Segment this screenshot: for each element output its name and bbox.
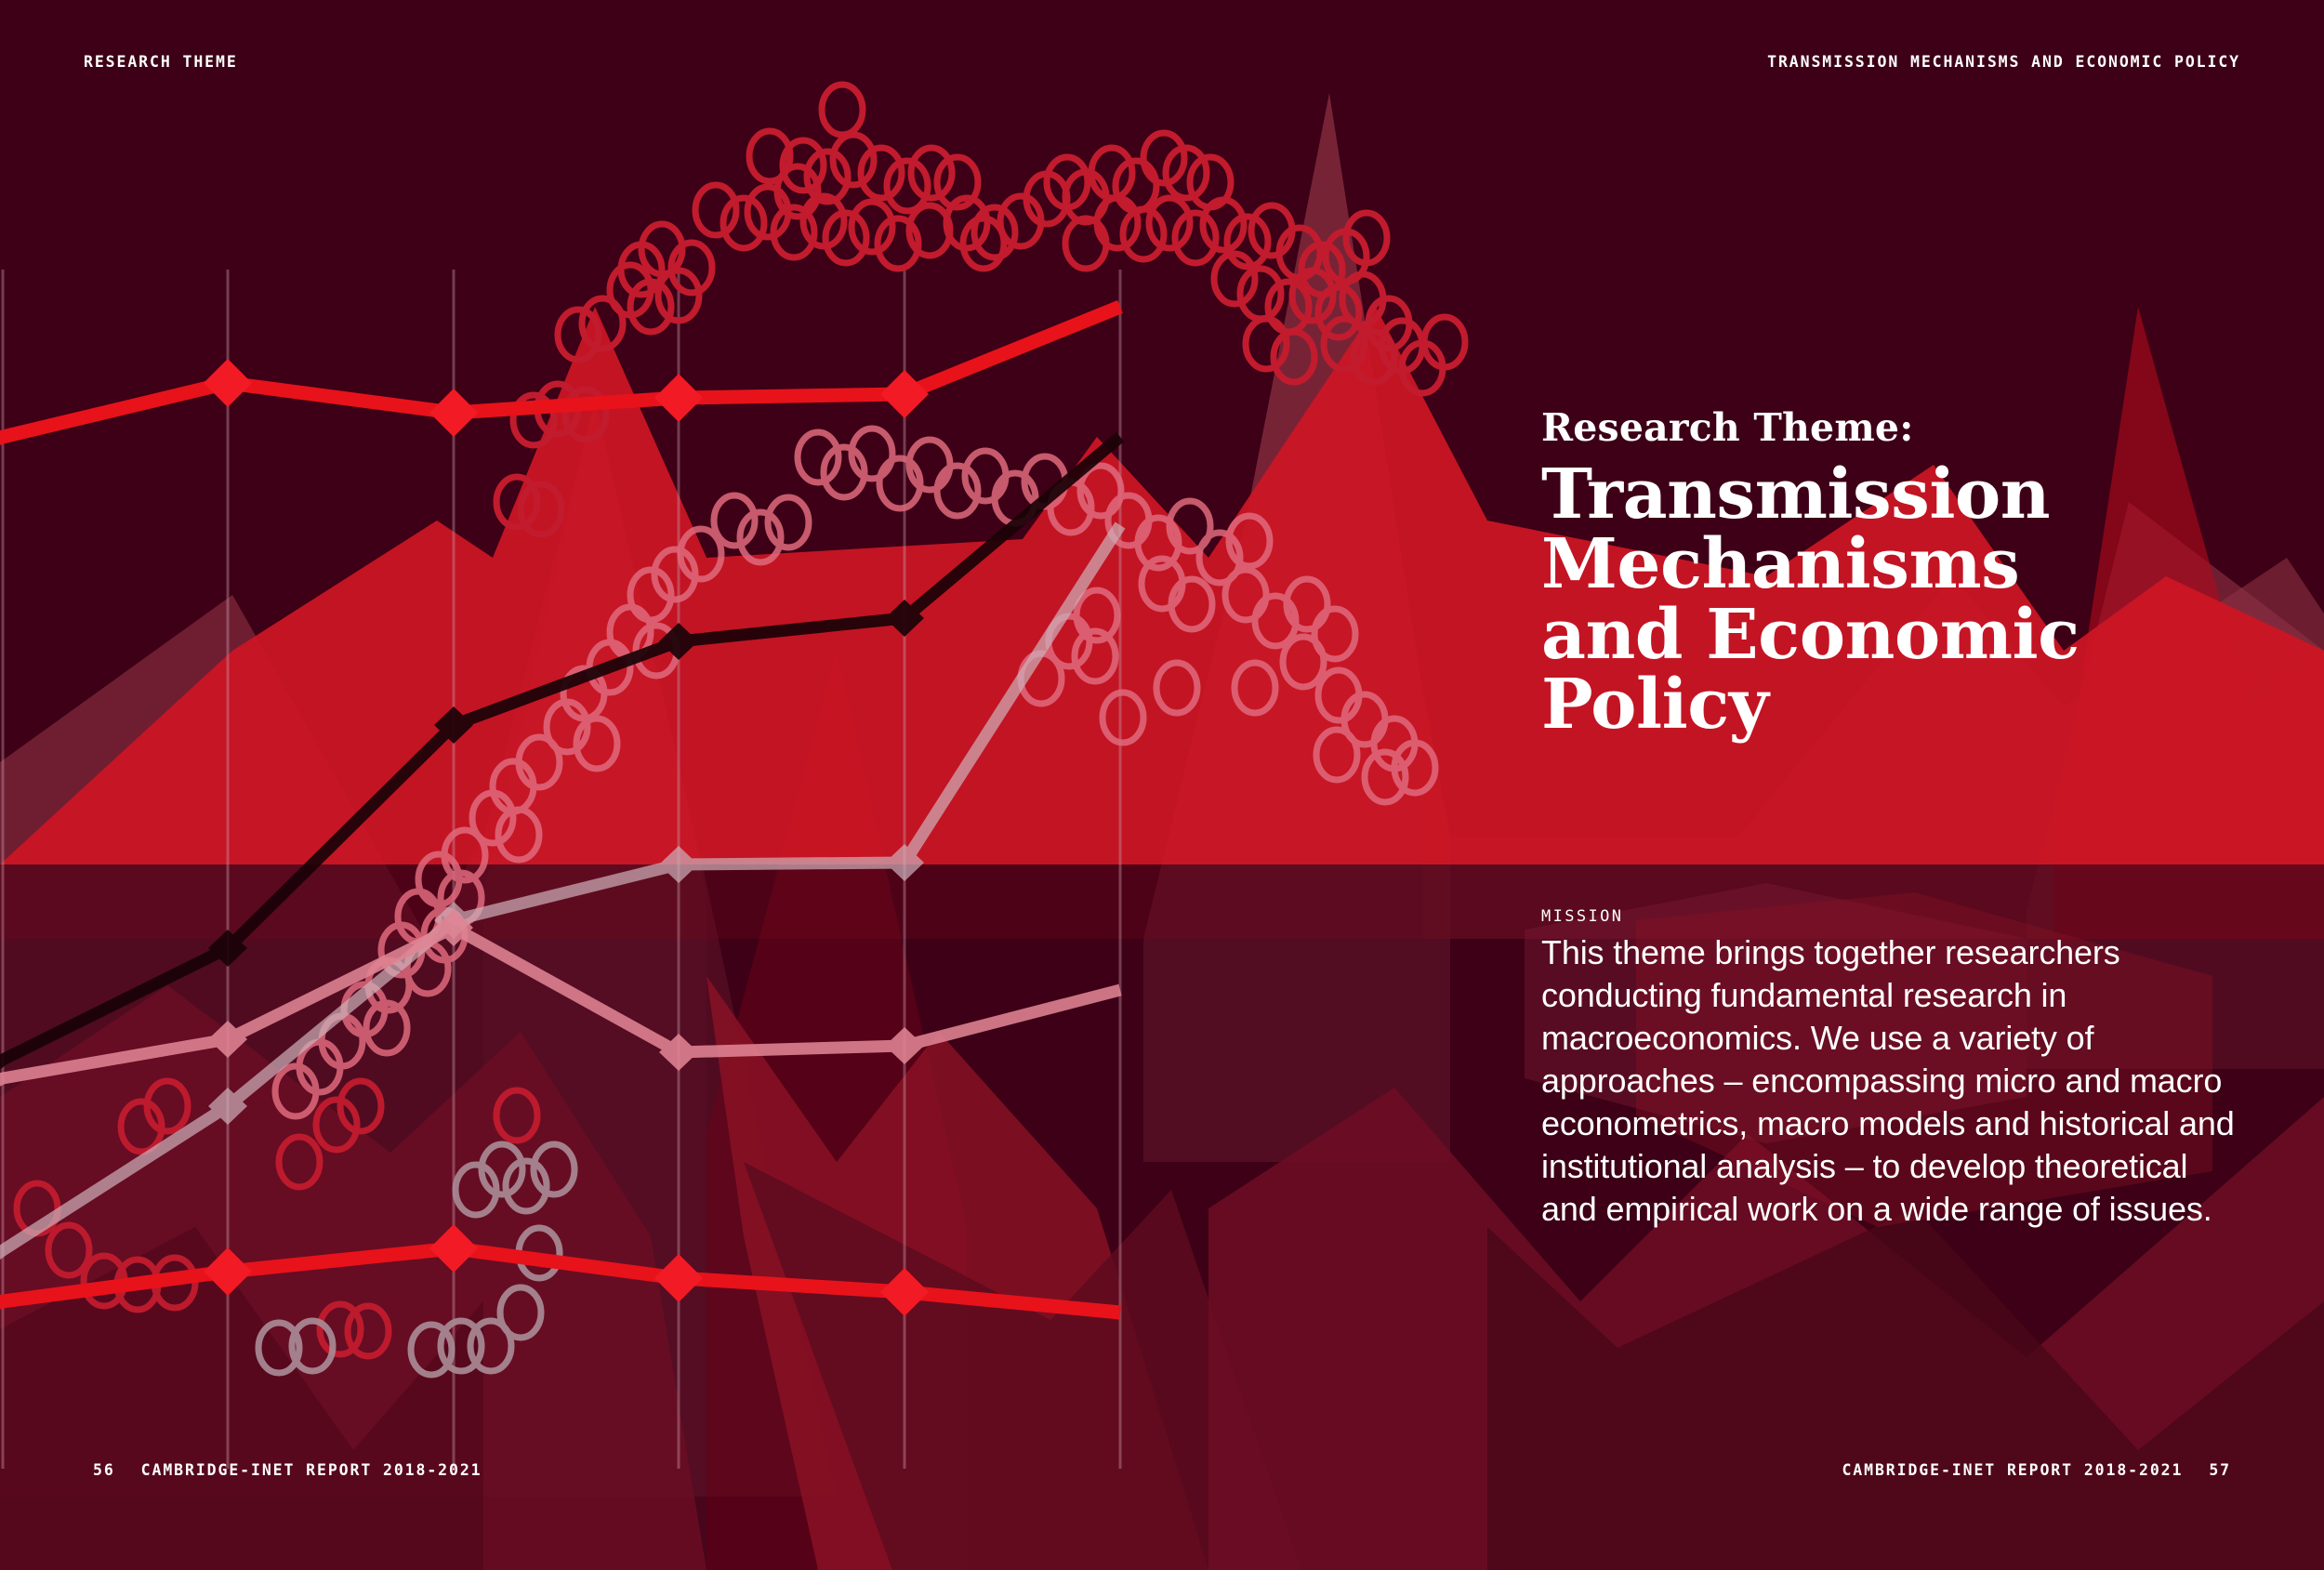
- footer-right: CAMBRIDGE-INET REPORT 2018-2021 57: [1842, 1461, 2231, 1479]
- mission-body-text: This theme brings together researchers c…: [1541, 931, 2248, 1232]
- footer-left-page-number: 56: [93, 1461, 115, 1479]
- report-spread-page: RESEARCH THEME TRANSMISSION MECHANISMS A…: [0, 0, 2324, 1570]
- page-title-line-4: Policy: [1541, 670, 2192, 740]
- page-title-line-3: and Economic: [1541, 600, 2192, 670]
- abstract-data-visualisation-artwork: [0, 0, 2324, 1570]
- page-title-line-2: Mechanisms: [1541, 530, 2192, 600]
- footer-left: 56 CAMBRIDGE-INET REPORT 2018-2021: [93, 1461, 482, 1479]
- research-theme-kicker: Research Theme:: [1541, 409, 2192, 447]
- footer-left-label: CAMBRIDGE-INET REPORT 2018-2021: [141, 1461, 482, 1479]
- footer-right-page-number: 57: [2209, 1461, 2231, 1479]
- footer-right-label: CAMBRIDGE-INET REPORT 2018-2021: [1842, 1461, 2183, 1479]
- running-head-left: RESEARCH THEME: [84, 53, 238, 71]
- mission-block: MISSION This theme brings together resea…: [1541, 907, 2248, 1232]
- title-column: Research Theme: Transmission Mechanisms …: [1541, 409, 2192, 741]
- running-head-right: TRANSMISSION MECHANISMS AND ECONOMIC POL…: [1767, 53, 2240, 71]
- page-title: Transmission Mechanisms and Economic Pol…: [1541, 460, 2192, 741]
- mission-label: MISSION: [1541, 907, 2248, 926]
- page-title-line-1: Transmission: [1541, 460, 2192, 530]
